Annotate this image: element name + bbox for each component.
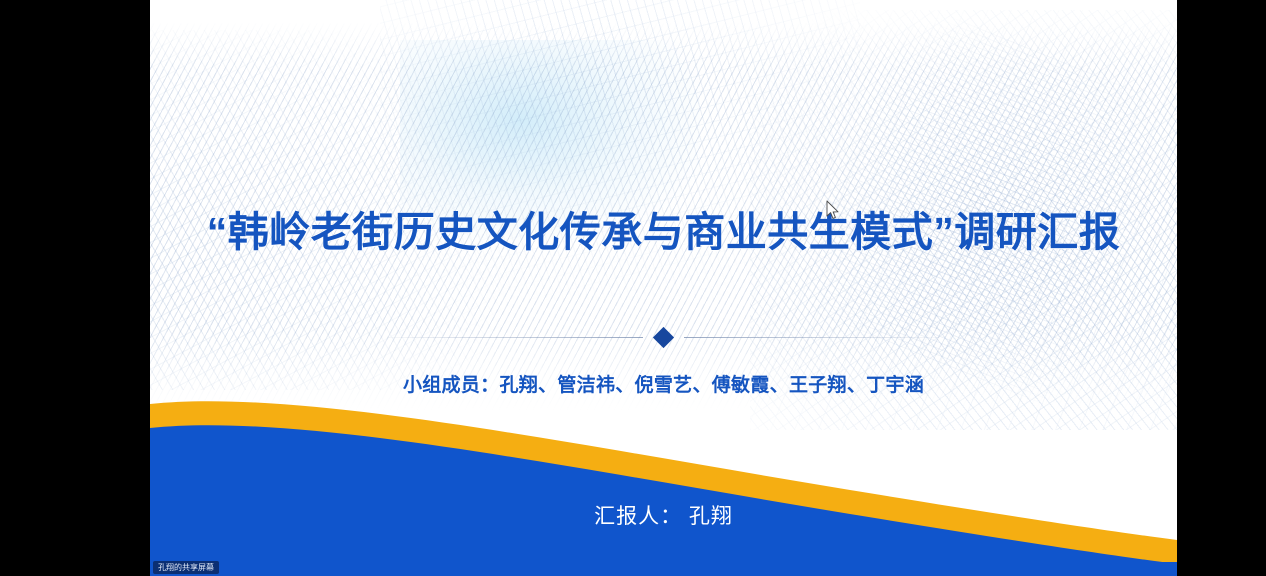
diagonal-hatch-texture	[150, 0, 1177, 576]
presentation-slide[interactable]: “韩岭老街历史文化传承与商业共生模式”调研汇报 小组成员：孔翔、管洁祎、倪雪艺、…	[150, 0, 1177, 576]
divider-rule-right	[684, 337, 940, 338]
group-members-line: 小组成员：孔翔、管洁祎、倪雪艺、傅敏霞、王子翔、丁宇涵	[150, 370, 1177, 397]
page-title: “韩岭老街历史文化传承与商业共生模式”调研汇报	[150, 198, 1177, 258]
divider-rule-left	[387, 337, 643, 338]
presenter-line: 汇报人： 孔翔	[150, 500, 1177, 530]
wave-decoration	[150, 276, 1177, 576]
screen-share-badge: 孔翔的共享屏幕	[153, 561, 219, 574]
divider-ornament	[150, 330, 1177, 345]
shared-screen-viewport: “韩岭老街历史文化传承与商业共生模式”调研汇报 小组成员：孔翔、管洁祎、倪雪艺、…	[0, 0, 1266, 576]
wave-yellow-band	[150, 401, 1177, 576]
diamond-icon	[653, 327, 674, 348]
wave-blue-fill	[150, 562, 1177, 576]
